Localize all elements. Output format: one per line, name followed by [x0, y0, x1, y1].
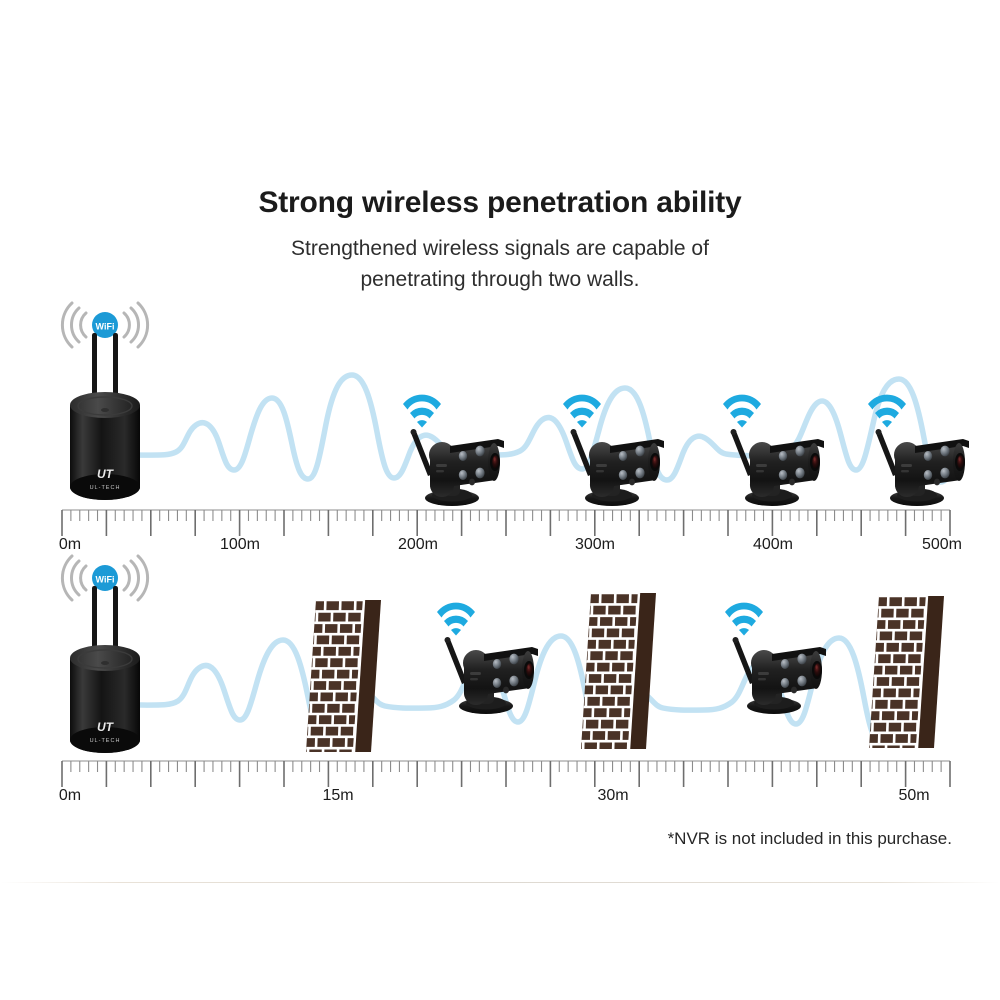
ruler-label: 0m: [59, 787, 81, 805]
footnote-text: *NVR is not included in this purchase.: [668, 829, 952, 849]
brand-logo: UT: [97, 720, 115, 734]
brick-wall: [862, 596, 944, 778]
ruler-label: 50m: [898, 787, 929, 805]
brand-name: UL-TECH: [90, 738, 121, 744]
brick-wall: [574, 593, 656, 775]
section-divider: [0, 882, 1000, 883]
wifi-badge-label: WiFi: [96, 575, 115, 585]
antenna-right: [113, 586, 118, 653]
camera-row2-1: [437, 603, 538, 714]
nvr-top: [70, 645, 140, 671]
brick-wall: [299, 600, 381, 782]
infographic-canvas: Strong wireless penetration ability Stre…: [0, 0, 1000, 1000]
scene-through-walls: WiFi UT UL-TECH: [0, 0, 1000, 1000]
ruler-scene-2: 0m15m30m50m: [0, 757, 1000, 817]
antenna-left: [92, 586, 97, 653]
ruler-label: 15m: [322, 787, 353, 805]
ruler-ticks-2: [0, 757, 1000, 793]
ruler-label: 30m: [597, 787, 628, 805]
nvr-device-row2: WiFi UT UL-TECH: [62, 556, 147, 753]
